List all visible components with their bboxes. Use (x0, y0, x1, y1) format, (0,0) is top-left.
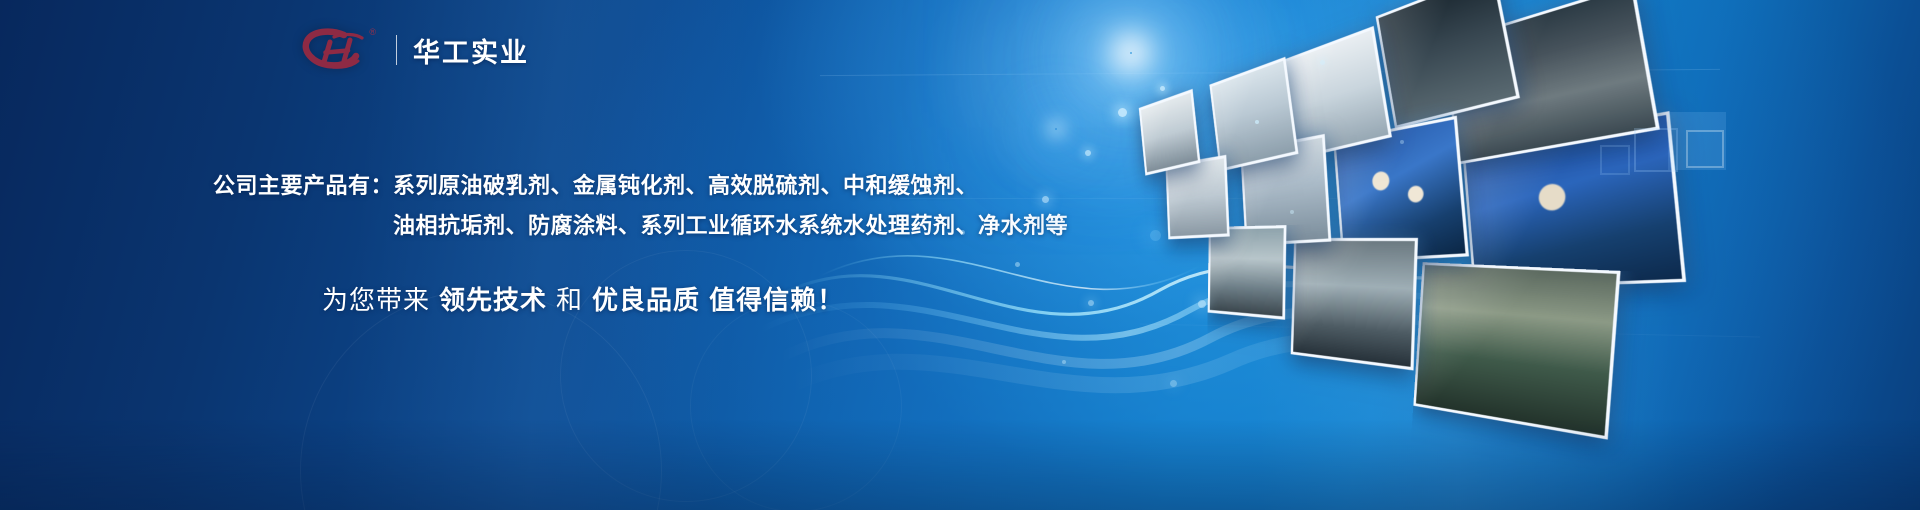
photo-microscope[interactable] (1139, 89, 1201, 176)
company-name: 华工实业 (413, 31, 529, 70)
photo-storage-rack[interactable] (1376, 0, 1520, 129)
photo-storage-tanks[interactable] (1291, 238, 1418, 371)
company-logo[interactable]: ® 华工实业 (300, 28, 529, 72)
light-burst-icon (1055, 128, 1057, 130)
hero-banner: ® 华工实业 公司主要产品有：系列原油破乳剂、金属钝化剂、高效脱硫剂、中和缓蚀剂… (0, 0, 1920, 510)
tagline-prefix: 为您带来 (322, 286, 430, 316)
photo-chemical-drums[interactable] (1413, 262, 1620, 440)
logo-divider (396, 35, 397, 65)
tagline-highlight-2: 优良品质 (592, 286, 700, 316)
photo-plant-exterior[interactable] (1208, 225, 1287, 320)
tagline-conjunction: 和 (556, 286, 583, 316)
ch-monogram-icon: ® (300, 28, 378, 72)
bottom-vignette (0, 420, 1920, 510)
tagline-highlight-1: 领先技术 (439, 286, 547, 316)
registered-trademark-icon: ® (369, 28, 376, 37)
